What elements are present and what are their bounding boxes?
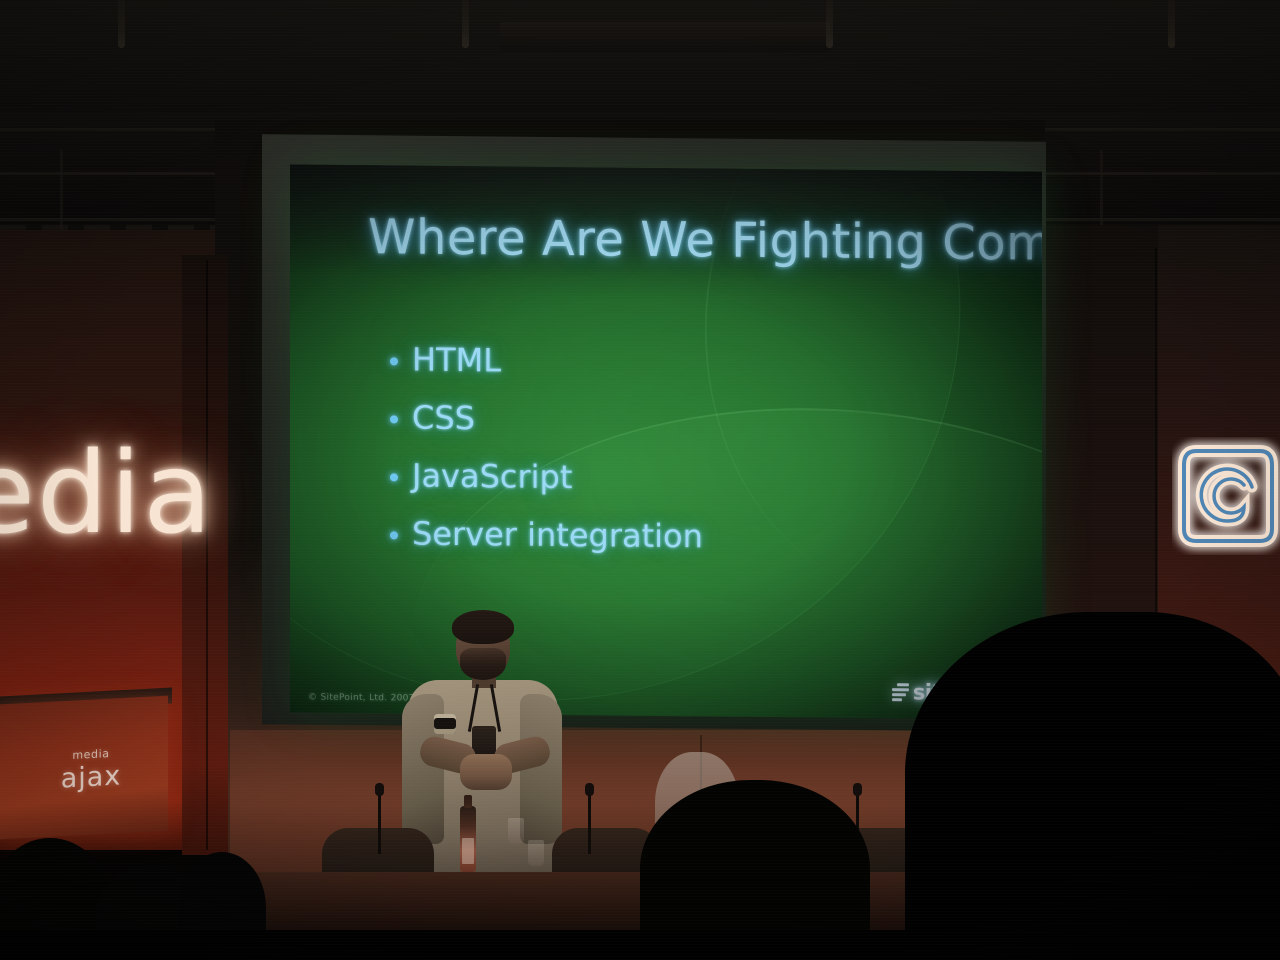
ceiling-lamp-icon xyxy=(1168,0,1175,48)
list-item: HTML xyxy=(390,337,1006,387)
podium-brand-big: ajax xyxy=(36,759,146,796)
water-bottle xyxy=(460,806,476,872)
list-item: JavaScript xyxy=(390,454,1006,504)
slide-bullet-list: HTML CSS JavaScript Server integration xyxy=(390,337,1006,562)
podium-branding: media ajax xyxy=(36,745,146,796)
speaker-hair xyxy=(452,610,514,644)
ceiling-duct xyxy=(500,22,830,52)
ceiling-lamp-icon xyxy=(826,0,833,48)
conference-photo: edia xyxy=(0,0,1280,960)
drinking-glass xyxy=(528,840,544,866)
list-item: CSS xyxy=(390,396,1006,446)
drinking-glass xyxy=(508,818,524,844)
ceiling-lamp-icon xyxy=(118,0,125,48)
at-symbol-logo-icon xyxy=(1172,437,1280,555)
audience-silhouette xyxy=(905,612,1280,960)
speaker-hands xyxy=(460,754,512,790)
bottle-label xyxy=(462,838,474,864)
microphone-icon xyxy=(378,792,381,854)
ceiling-lamp-icon xyxy=(462,0,469,48)
speaker-beard xyxy=(460,648,506,680)
sitepoint-mark-icon xyxy=(892,683,909,701)
media-wall-sign: edia xyxy=(0,438,214,550)
speaker-shirt-graphic xyxy=(434,714,456,734)
microphone-icon xyxy=(588,792,591,854)
audience-foreground xyxy=(0,930,1280,960)
slide-title: Where Are We Fighting Complexity? xyxy=(368,209,1006,271)
list-item: Server integration xyxy=(390,512,1006,562)
